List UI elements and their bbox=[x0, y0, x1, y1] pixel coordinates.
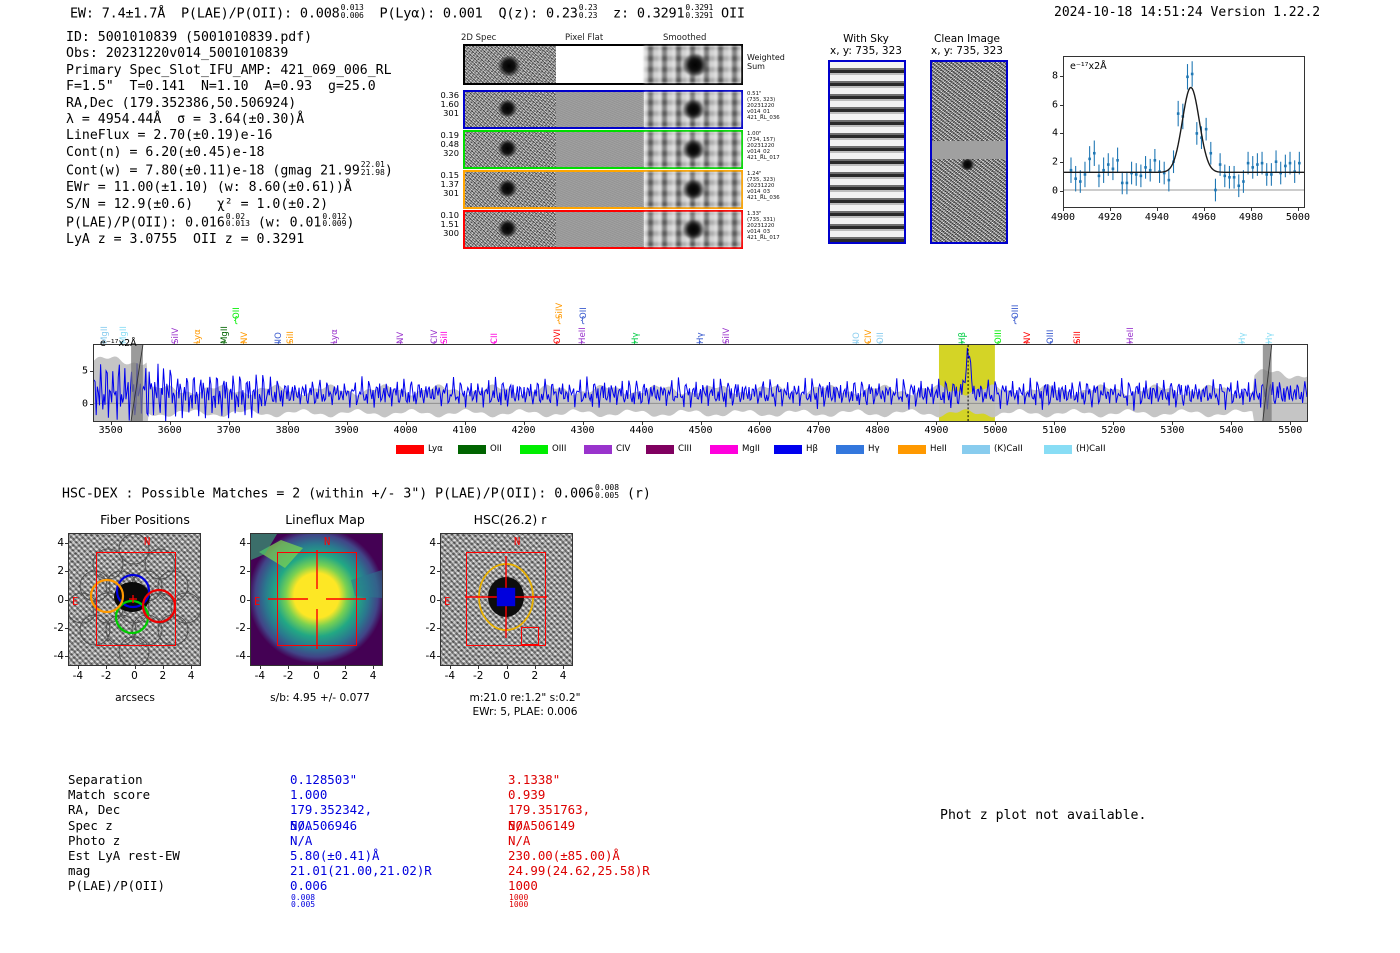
col-title-2dspec: 2D Spec bbox=[461, 33, 496, 43]
lineflux-caption: s/b: 4.95 +/- 0.077 bbox=[245, 692, 395, 704]
hsc-r-east-label: E bbox=[444, 596, 450, 608]
spec-ytick-mark bbox=[90, 371, 93, 372]
hsc-ytick-mark bbox=[437, 571, 440, 572]
match-row-label: RA, Dec bbox=[68, 802, 288, 817]
emission-line-label: Lyα bbox=[330, 307, 340, 344]
ws-2dspec bbox=[465, 46, 556, 83]
hsc-xtick-mark bbox=[191, 666, 192, 669]
emis-ytick: 2 bbox=[1037, 157, 1058, 168]
header-qz: Q(z): 0.23 bbox=[498, 6, 577, 22]
exp-smoothed bbox=[644, 132, 741, 167]
hsc-xtick-mark bbox=[135, 666, 136, 669]
hsc-xtick-mark bbox=[535, 666, 536, 669]
exp-smoothed bbox=[644, 92, 741, 127]
hsc-ytick: 2 bbox=[46, 565, 64, 577]
hsc-xtick: -4 bbox=[73, 670, 83, 682]
hsc-xtick-mark bbox=[450, 666, 451, 669]
spec-xtick-mark bbox=[1054, 422, 1055, 425]
info-plae-pre: P(LAE)/P(OII): 0.016 bbox=[66, 215, 225, 230]
info-cont-w-post: ) bbox=[385, 164, 393, 179]
emis-ytick-mark bbox=[1060, 162, 1063, 163]
spec-xtick: 4500 bbox=[688, 425, 712, 436]
emis-axes bbox=[1063, 56, 1305, 208]
emis-xtick: 4900 bbox=[1051, 212, 1075, 223]
with-sky-title: With Sky bbox=[826, 33, 906, 45]
exp-smoothed-blob bbox=[683, 100, 704, 119]
exp-pixelflat bbox=[556, 92, 644, 127]
fiber-xlabel: arcsecs bbox=[70, 692, 200, 704]
hsc-xtick: 4 bbox=[560, 670, 567, 682]
hsc-ytick: 4 bbox=[418, 537, 436, 549]
ws-pixelflat bbox=[556, 46, 644, 83]
emission-line-label: NV bbox=[396, 307, 406, 344]
info-snr: S/N = 12.9(±0.6) χ² = 1.0(±0.2) bbox=[66, 197, 393, 213]
spec-xtick: 3800 bbox=[276, 425, 300, 436]
match-row-label: Est LyA rest-EW bbox=[68, 848, 288, 863]
legend-swatch bbox=[646, 445, 674, 454]
hsc-headline-text: HSC-DEX : Possible Matches = 2 (within +… bbox=[62, 487, 594, 502]
2d-spec-panel: 2D Spec Pixel Flat Smoothed WeightedSum … bbox=[435, 33, 765, 248]
emission-line-label: SiIV bbox=[722, 307, 732, 344]
match-row-label: Spec z bbox=[68, 818, 288, 833]
emission-line-label: Hγ bbox=[696, 307, 706, 344]
exp-blob bbox=[498, 140, 517, 157]
hsc-xtick-mark bbox=[478, 666, 479, 669]
spec-xtick: 3600 bbox=[158, 425, 182, 436]
emission-line-label: NV bbox=[240, 307, 250, 344]
legend-swatch bbox=[458, 445, 486, 454]
match2-value: 100010001000 bbox=[508, 878, 538, 910]
match2-value: N/A bbox=[508, 833, 530, 848]
legend-label: (H)CaII bbox=[1076, 444, 1106, 454]
info-cont-w-pre: Cont(w) = 7.80(±0.11)e-18 (gmag 21.99 bbox=[66, 164, 360, 179]
spec-ytick: 5 bbox=[68, 366, 88, 377]
hsc-r-match2-marker bbox=[521, 627, 539, 645]
spec-xtick-mark bbox=[936, 422, 937, 425]
emission-line-label: HeII bbox=[578, 307, 588, 344]
lineflux-north-label: N bbox=[324, 536, 330, 548]
info-plae-mid: (w: 0.01 bbox=[250, 215, 321, 230]
spec-xtick-mark bbox=[818, 422, 819, 425]
hsc-ytick-mark bbox=[65, 571, 68, 572]
exposure-stat: 320 bbox=[413, 149, 459, 158]
emis-xtick: 4920 bbox=[1098, 212, 1122, 223]
spec-xtick-mark bbox=[288, 422, 289, 425]
legend-swatch bbox=[584, 445, 612, 454]
with-sky-coords: x, y: 735, 323 bbox=[816, 45, 916, 57]
exp-smoothed bbox=[644, 172, 741, 207]
match1-value: 21.01(21.00,21.02)R bbox=[290, 863, 432, 878]
emis-xtick-mark bbox=[1110, 208, 1111, 211]
hsc-xtick-mark bbox=[345, 666, 346, 669]
spec-xtick-mark bbox=[465, 422, 466, 425]
emis-xtick-mark bbox=[1251, 208, 1252, 211]
spec-xtick-mark bbox=[347, 422, 348, 425]
match-row-label: Separation bbox=[68, 772, 288, 787]
spec-xtick-mark bbox=[642, 422, 643, 425]
legend-swatch bbox=[1044, 445, 1072, 454]
legend-label: HeII bbox=[930, 444, 947, 454]
info-plae: P(LAE)/P(OII): 0.0160.020.013 (w: 0.010.… bbox=[66, 213, 393, 232]
exp-blob bbox=[498, 220, 517, 237]
exposure-meta: 421_RL_036 bbox=[747, 195, 807, 201]
hsc-ytick: 2 bbox=[418, 565, 436, 577]
emission-line-label: Hγ bbox=[1265, 307, 1275, 344]
header-plae: P(LAE)/P(OII): 0.008 bbox=[181, 6, 340, 22]
fiber-north-label: N bbox=[144, 536, 150, 548]
emis-ytick: 6 bbox=[1037, 99, 1058, 110]
lineflux-map-title: Lineflux Map bbox=[240, 512, 410, 527]
emission-line-label: Lyα bbox=[193, 307, 203, 344]
legend-label: CIII bbox=[678, 444, 692, 454]
hsc-xtick-mark bbox=[317, 666, 318, 669]
hsc-ytick-mark bbox=[437, 543, 440, 544]
hsc-r-north-label: N bbox=[514, 536, 520, 548]
exposure-row bbox=[463, 90, 743, 129]
emis-xtick-mark bbox=[1298, 208, 1299, 211]
emission-line-label: OIII bbox=[994, 307, 1004, 344]
exp-smoothed-blob bbox=[683, 180, 704, 199]
legend-swatch bbox=[898, 445, 926, 454]
exposure-stat: 301 bbox=[413, 109, 459, 118]
lineflux-crosshair bbox=[250, 533, 383, 666]
hsc-xtick: -2 bbox=[283, 670, 293, 682]
hsc-r-caption1: m:21.0 re:1.2" s:0.2" bbox=[435, 692, 615, 704]
hsc-xtick-mark bbox=[563, 666, 564, 669]
emission-line-label: Hγ bbox=[631, 307, 641, 344]
hsc-ytick: -4 bbox=[46, 650, 64, 662]
ws-source-blob bbox=[498, 56, 520, 76]
hsc-xtick-mark bbox=[288, 666, 289, 669]
match-row-label: Photo z bbox=[68, 833, 288, 848]
emission-line-label: OIII bbox=[1046, 307, 1056, 344]
info-lambda: λ = 4954.44Å σ = 3.64(±0.30)Å bbox=[66, 112, 393, 128]
spec-xtick-mark bbox=[524, 422, 525, 425]
exposure-left-labels: 0.151.37301 bbox=[413, 171, 459, 199]
header-ew: EW: 7.4±1.7Å bbox=[70, 6, 165, 22]
exp-2dspec bbox=[465, 92, 556, 127]
match1-value: 5.80(±0.41)Å bbox=[290, 848, 380, 863]
info-plae-lo: 0.013 bbox=[226, 219, 250, 228]
spec-ytick: 0 bbox=[68, 398, 88, 409]
fiber-red-box bbox=[96, 552, 176, 646]
header-z-lo: 0.3291 bbox=[685, 11, 713, 20]
match2-value: 24.99(24.62,25.58)R bbox=[508, 863, 650, 878]
emis-xtick-mark bbox=[1063, 208, 1064, 211]
spec-ytick-mark bbox=[90, 404, 93, 405]
weighted-sum-row bbox=[463, 44, 743, 85]
match2-value: 230.00(±85.00)Å bbox=[508, 848, 620, 863]
spec-xtick-mark bbox=[1231, 422, 1232, 425]
hsc-ytick: 4 bbox=[46, 537, 64, 549]
ws-smoothed-blob bbox=[683, 54, 707, 76]
exp-blob bbox=[498, 100, 517, 117]
info-plae-post: ) bbox=[346, 215, 354, 230]
hsc-ytick-mark bbox=[247, 543, 250, 544]
spec-xtick: 4800 bbox=[865, 425, 889, 436]
spec-xtick: 5100 bbox=[1042, 425, 1066, 436]
emission-line-label: Hβ bbox=[958, 307, 968, 344]
hsc-ytick-mark bbox=[247, 571, 250, 572]
exposure-meta: 421_RL_017 bbox=[747, 155, 807, 161]
legend-swatch bbox=[396, 445, 424, 454]
spec-xtick-mark bbox=[877, 422, 878, 425]
legend-swatch bbox=[836, 445, 864, 454]
spec-flux-units: e⁻¹⁷x2Å bbox=[100, 338, 137, 349]
hsc-ytick-mark bbox=[437, 600, 440, 601]
hsc-r-title: HSC(26.2) r bbox=[425, 512, 595, 527]
hsc-ytick: -4 bbox=[418, 650, 436, 662]
emission-line-label: SiII bbox=[1073, 307, 1083, 344]
emis-ytick: 0 bbox=[1037, 185, 1058, 196]
hsc-xtick: 2 bbox=[341, 670, 348, 682]
hsc-ytick-mark bbox=[247, 628, 250, 629]
hsc-headline-lo: 0.005 bbox=[595, 491, 619, 500]
spec-xtick-mark bbox=[170, 422, 171, 425]
legend-label: OII bbox=[490, 444, 502, 454]
match1-value: 1.000 bbox=[290, 787, 327, 802]
emission-line-label: OII bbox=[876, 307, 886, 344]
exposure-right-labels: 1.24"(735, 323)20231220v014_03421_RL_036 bbox=[747, 171, 807, 201]
spec-xtick: 5000 bbox=[983, 425, 1007, 436]
exp-2dspec bbox=[465, 172, 556, 207]
legend-label: (K)CaII bbox=[994, 444, 1023, 454]
exposure-meta: 421_RL_017 bbox=[747, 235, 807, 241]
emission-line-label: SiII bbox=[440, 307, 450, 344]
hsc-xtick: 0 bbox=[313, 670, 320, 682]
photz-note: Phot z plot not available. bbox=[940, 808, 1146, 823]
info-radec: RA,Dec (179.352386,50.506924) bbox=[66, 96, 393, 112]
emission-line-label: NV bbox=[1023, 307, 1033, 344]
header-plya: P(Lyα): 0.001 bbox=[380, 6, 483, 22]
emis-ytick-mark bbox=[1060, 191, 1063, 192]
clean-source-blob bbox=[960, 159, 975, 170]
emis-svg bbox=[1064, 57, 1304, 207]
info-primary-spec: Primary Spec_Slot_IFU_AMP: 421_069_006_R… bbox=[66, 63, 393, 79]
info-cont-n: Cont(n) = 6.20(±0.45)e-18 bbox=[66, 145, 393, 161]
spec-xtick: 4100 bbox=[453, 425, 477, 436]
match2-value: 0.939 bbox=[508, 787, 545, 802]
exposure-right-labels: 1.33"(735, 331)20231220v014_03421_RL_017 bbox=[747, 211, 807, 241]
info-seeing: F=1.5" T=0.141 N=1.10 A=0.93 g=25.0 bbox=[66, 79, 393, 95]
spec-xtick: 3500 bbox=[99, 425, 123, 436]
header-qz-lo: 0.23 bbox=[579, 11, 597, 20]
hsc-xtick: -2 bbox=[101, 670, 111, 682]
spec-xtick: 4400 bbox=[629, 425, 653, 436]
exp-2dspec bbox=[465, 132, 556, 167]
emis-ytick-mark bbox=[1060, 133, 1063, 134]
spec-xtick: 3700 bbox=[217, 425, 241, 436]
emission-line-label: Hγ bbox=[1238, 307, 1248, 344]
info-cont-w: Cont(w) = 7.80(±0.11)e-18 (gmag 21.9922.… bbox=[66, 161, 393, 180]
emis-xtick: 4980 bbox=[1239, 212, 1263, 223]
spec-xtick-mark bbox=[229, 422, 230, 425]
emis-ytick-mark bbox=[1060, 76, 1063, 77]
hsc-ytick-mark bbox=[437, 656, 440, 657]
exposure-left-labels: 0.190.48320 bbox=[413, 131, 459, 159]
emission-line-label: OIII bbox=[1011, 282, 1021, 319]
legend-label: Hβ bbox=[806, 444, 818, 454]
spec-xtick: 4700 bbox=[806, 425, 830, 436]
match-row-label: P(LAE)/P(OII) bbox=[68, 878, 288, 893]
hsc-ytick: 0 bbox=[228, 594, 246, 606]
spectrum-svg bbox=[94, 345, 1307, 421]
spec-xtick: 4200 bbox=[512, 425, 536, 436]
legend-swatch bbox=[774, 445, 802, 454]
hsc-ytick: -2 bbox=[46, 622, 64, 634]
spec-xtick-mark bbox=[1290, 422, 1291, 425]
hsc-ytick: -2 bbox=[228, 622, 246, 634]
hsc-headline-post: (r) bbox=[627, 487, 651, 502]
emis-xtick-mark bbox=[1157, 208, 1158, 211]
spec-xtick-mark bbox=[995, 422, 996, 425]
hsc-ytick-mark bbox=[65, 656, 68, 657]
exp-pixelflat bbox=[556, 172, 644, 207]
hsc-ytick: 2 bbox=[228, 565, 246, 577]
spec-xtick-mark bbox=[406, 422, 407, 425]
emission-line-bracket: { bbox=[556, 316, 562, 326]
exposure-left-labels: 0.361.60301 bbox=[413, 91, 459, 119]
exposure-row bbox=[463, 170, 743, 209]
hsc-xtick: 2 bbox=[159, 670, 166, 682]
spec-xtick-mark bbox=[1113, 422, 1114, 425]
exp-pixelflat bbox=[556, 212, 644, 247]
clean-masked-strip bbox=[932, 141, 1006, 159]
clean-image-coords: x, y: 735, 323 bbox=[917, 45, 1017, 57]
info-plae-w-lo: 0.009 bbox=[322, 219, 346, 228]
spec-xtick: 5200 bbox=[1101, 425, 1125, 436]
exposure-stat: 300 bbox=[413, 229, 459, 238]
emission-line-bracket: { bbox=[233, 316, 239, 326]
exp-blob bbox=[498, 180, 517, 197]
hsc-xtick-mark bbox=[507, 666, 508, 669]
match-row-label: Match score bbox=[68, 787, 288, 802]
emis-xtick: 5000 bbox=[1286, 212, 1310, 223]
emission-line-label: MgII bbox=[220, 307, 230, 344]
spectrum-axes bbox=[93, 344, 1308, 422]
info-ewr: EWr = 11.00(±1.10) (w: 8.60(±0.61))Å bbox=[66, 180, 393, 196]
fiber-east-label: E bbox=[72, 596, 78, 608]
hsc-ytick: 4 bbox=[228, 537, 246, 549]
source-info-block: ID: 5001010839 (5001010839.pdf) Obs: 202… bbox=[66, 30, 393, 248]
info-lineflux: LineFlux = 2.70(±0.19)e-16 bbox=[66, 128, 393, 144]
emis-xtick-mark bbox=[1204, 208, 1205, 211]
emission-line-label: IIO bbox=[852, 307, 862, 344]
hsc-xtick-mark bbox=[106, 666, 107, 669]
header-line-id: OII bbox=[721, 6, 745, 22]
legend-label: Lyα bbox=[428, 444, 443, 454]
hsc-ytick: -4 bbox=[228, 650, 246, 662]
emis-flux-units: e⁻¹⁷x2Å bbox=[1070, 61, 1107, 72]
emission-line-plot: e⁻¹⁷x2Å 49004920494049604980500002468 bbox=[1037, 52, 1305, 232]
exposure-meta: 421_RL_036 bbox=[747, 115, 807, 121]
emission-line-label: SiII bbox=[286, 307, 296, 344]
info-id: ID: 5001010839 (5001010839.pdf) bbox=[66, 30, 393, 46]
col-title-smoothed: Smoothed bbox=[663, 33, 706, 43]
exp-smoothed-blob bbox=[683, 220, 704, 239]
lineflux-east-label: E bbox=[254, 596, 260, 608]
legend-label: OIII bbox=[552, 444, 566, 454]
match2-value: N/A bbox=[508, 818, 530, 833]
match1-value: 0.0060.0080.005 bbox=[290, 878, 327, 910]
spec-xtick: 5300 bbox=[1160, 425, 1184, 436]
emis-ytick: 4 bbox=[1037, 128, 1058, 139]
spec-xtick: 5400 bbox=[1219, 425, 1243, 436]
hsc-xtick-mark bbox=[260, 666, 261, 669]
hsc-ytick: 0 bbox=[418, 594, 436, 606]
col-title-pixelflat: Pixel Flat bbox=[565, 33, 603, 43]
hsc-ytick-mark bbox=[65, 628, 68, 629]
hsc-xtick: 0 bbox=[503, 670, 510, 682]
legend-label: MgII bbox=[742, 444, 760, 454]
header-plae-lo: 0.006 bbox=[341, 11, 364, 20]
spec-xtick: 4300 bbox=[570, 425, 594, 436]
match1-value: 0.128503" bbox=[290, 772, 357, 787]
hsc-xtick: -2 bbox=[473, 670, 483, 682]
exposure-row bbox=[463, 210, 743, 249]
weighted-sum-label: WeightedSum bbox=[747, 53, 785, 71]
spec-xtick-mark bbox=[759, 422, 760, 425]
emission-line-label: CII bbox=[490, 307, 500, 344]
legend-swatch bbox=[710, 445, 738, 454]
spec-xtick: 3900 bbox=[335, 425, 359, 436]
exposure-left-labels: 0.101.51300 bbox=[413, 211, 459, 239]
hsc-xtick-mark bbox=[373, 666, 374, 669]
hsc-r-caption2: EWr: 5, PLAE: 0.006 bbox=[435, 706, 615, 718]
timestamp-version: 2024-10-18 14:51:24 Version 1.22.2 bbox=[1054, 5, 1320, 20]
hsc-ytick-mark bbox=[65, 600, 68, 601]
exp-pixelflat bbox=[556, 132, 644, 167]
spec-xtick: 5500 bbox=[1278, 425, 1302, 436]
full-spectrum-plot: MgII{MgII{OII{SiIV{Lyα{MgII{NV{IIO{SiII{… bbox=[78, 282, 1308, 462]
clean-image-title: Clean Image bbox=[920, 33, 1014, 45]
info-cont-w-lo: 21.98 bbox=[361, 168, 385, 177]
with-sky-image bbox=[828, 60, 906, 244]
fiber-positions-title: Fiber Positions bbox=[60, 512, 230, 527]
match-row-label: mag bbox=[68, 863, 288, 878]
spec-xtick-mark bbox=[583, 422, 584, 425]
legend-label: Hγ bbox=[868, 444, 880, 454]
emission-line-label: SiIV bbox=[171, 307, 181, 344]
header-z: z: 0.3291 bbox=[613, 6, 684, 22]
spec-xtick-mark bbox=[701, 422, 702, 425]
match1-value: N/A bbox=[290, 818, 312, 833]
emission-line-label: IIO bbox=[274, 307, 284, 344]
header-summary-line: EW: 7.4±1.7Å P(LAE)/P(OII): 0.0080.0130.… bbox=[70, 4, 745, 22]
hsc-ytick-mark bbox=[247, 600, 250, 601]
info-redshifts: LyA z = 3.0755 OII z = 0.3291 bbox=[66, 232, 393, 248]
hsc-xtick: -4 bbox=[255, 670, 265, 682]
emis-ytick-mark bbox=[1060, 105, 1063, 106]
spec-xtick-mark bbox=[1172, 422, 1173, 425]
emission-line-label: CIV bbox=[430, 307, 440, 344]
exp-2dspec bbox=[465, 212, 556, 247]
hsc-dex-headline: HSC-DEX : Possible Matches = 2 (within +… bbox=[62, 484, 651, 502]
emis-ytick: 8 bbox=[1037, 71, 1058, 82]
info-obs: Obs: 20231220v014_5001010839 bbox=[66, 46, 393, 62]
hsc-ytick: 0 bbox=[46, 594, 64, 606]
hsc-xtick: 2 bbox=[531, 670, 538, 682]
ws-smoothed bbox=[644, 46, 741, 83]
legend-swatch bbox=[520, 445, 548, 454]
legend-label: CIV bbox=[616, 444, 630, 454]
emission-line-label: SiIV bbox=[555, 282, 565, 319]
spec-xtick: 4900 bbox=[924, 425, 948, 436]
emis-xtick: 4940 bbox=[1145, 212, 1169, 223]
hsc-ytick-mark bbox=[437, 628, 440, 629]
emis-xtick: 4960 bbox=[1192, 212, 1216, 223]
exposure-row bbox=[463, 130, 743, 169]
